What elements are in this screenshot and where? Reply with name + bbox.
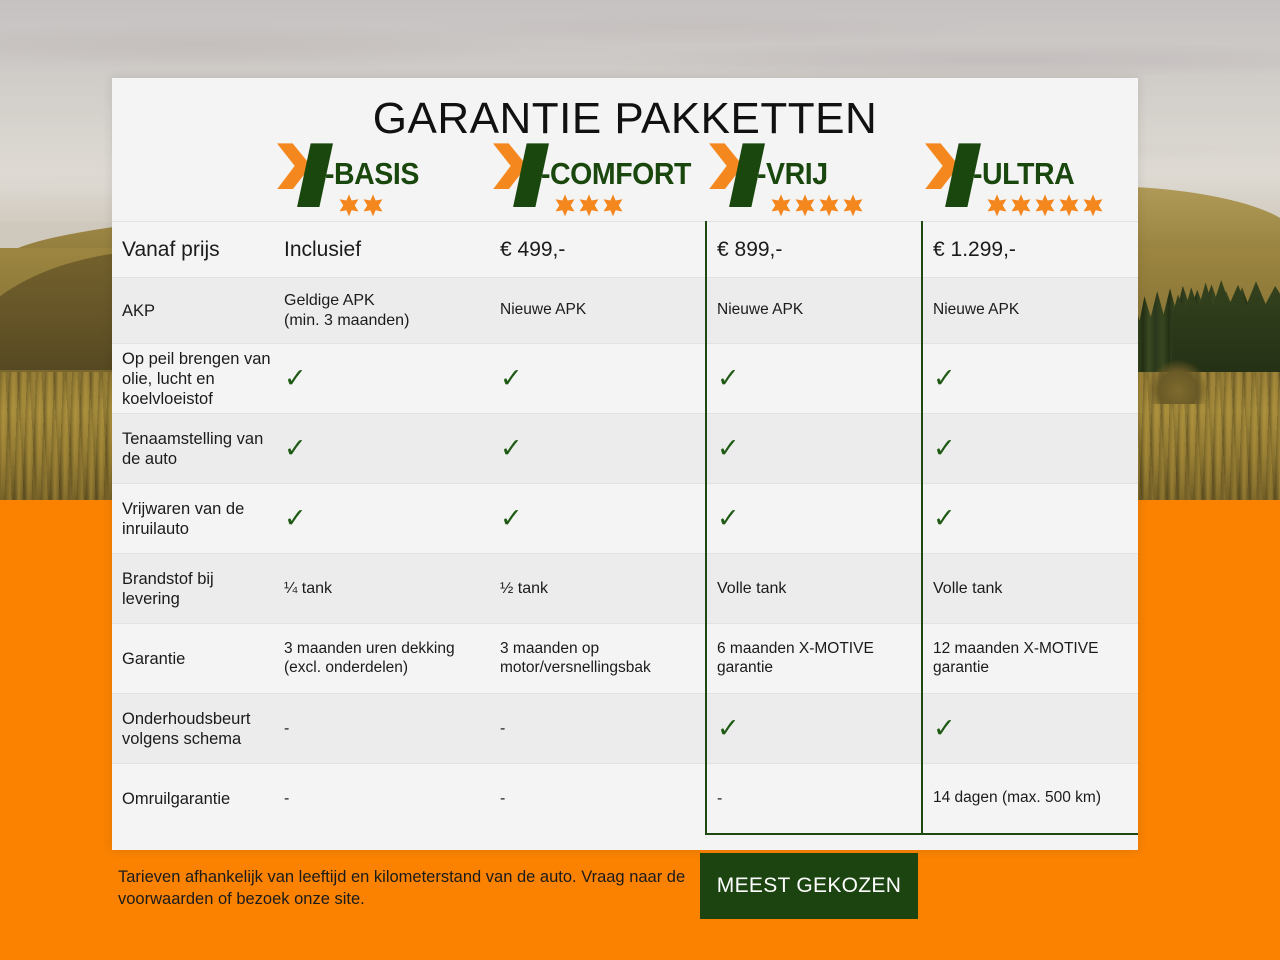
cell-comfort: ✓ (490, 344, 706, 414)
star-icon (362, 194, 384, 216)
cell-comfort: - (490, 694, 706, 764)
check-icon: ✓ (717, 503, 740, 534)
star-icon (794, 194, 816, 216)
table-row: Tenaamstelling van de auto ✓ ✓ ✓ ✓ (112, 414, 1138, 484)
check-icon: ✓ (500, 503, 523, 534)
cell-ultra: 14 dagen (max. 500 km) (922, 764, 1138, 834)
row-label: Tenaamstelling van de auto (112, 414, 274, 484)
cell-comfort: Nieuwe APK (490, 278, 706, 344)
shrub (1148, 360, 1208, 404)
check-icon: ✓ (933, 713, 956, 744)
star-icon (338, 194, 360, 216)
star-icon (986, 194, 1008, 216)
cell-basis: - (274, 694, 490, 764)
cell-comfort: ✓ (490, 484, 706, 554)
row-label: Garantie (112, 624, 274, 694)
cell-vrij: Volle tank (706, 554, 922, 624)
star-icon (1034, 194, 1056, 216)
check-icon: ✓ (717, 363, 740, 394)
cell-basis: ¼ tank (274, 554, 490, 624)
cell-basis: 3 maanden uren dekking(excl. onderdelen) (274, 624, 490, 694)
star-icon (1010, 194, 1032, 216)
star-rating-3 (554, 194, 624, 216)
cell-basis: - (274, 764, 490, 834)
check-icon: ✓ (284, 363, 307, 394)
star-icon (1082, 194, 1104, 216)
check-icon: ✓ (717, 713, 740, 744)
row-label: AKP (112, 278, 274, 344)
row-label: Vrijwaren van de inruilauto (112, 484, 274, 554)
cell-ultra: ✓ (922, 344, 1138, 414)
cell-vrij: € 899,- (706, 222, 922, 278)
pricing-card: GARANTIE PAKKETTEN -BASIS (112, 78, 1138, 850)
table-row: AKP Geldige APK(min. 3 maanden) Nieuwe A… (112, 278, 1138, 344)
row-label: Vanaf prijs (112, 222, 274, 278)
table-row: Garantie 3 maanden uren dekking(excl. on… (112, 624, 1138, 694)
logo-x-vrij: -VRIJ (709, 150, 834, 198)
star-icon (818, 194, 840, 216)
table-row: Vanaf prijs Inclusief € 499,- € 899,- € … (112, 222, 1138, 278)
row-label: Brandstof bij levering (112, 554, 274, 624)
package-header-row: -BASIS -COMFORT (112, 143, 1138, 221)
table-row: Op peil brengen van olie, lucht en koelv… (112, 344, 1138, 414)
star-icon (770, 194, 792, 216)
table-row: Vrijwaren van de inruilauto ✓ ✓ ✓ ✓ (112, 484, 1138, 554)
cell-comfort: € 499,- (490, 222, 706, 278)
cell-ultra: Volle tank (922, 554, 1138, 624)
logo-x-comfort: -COMFORT (493, 150, 704, 198)
cell-ultra: Nieuwe APK (922, 278, 1138, 344)
check-icon: ✓ (933, 363, 956, 394)
package-name-label: -COMFORT (541, 156, 691, 192)
cell-vrij: ✓ (706, 484, 922, 554)
cell-ultra: ✓ (922, 694, 1138, 764)
cell-comfort: ½ tank (490, 554, 706, 624)
star-rating-4 (770, 194, 864, 216)
package-name-label: -VRIJ (757, 156, 828, 192)
cell-ultra: € 1.299,- (922, 222, 1138, 278)
star-icon (554, 194, 576, 216)
package-header-x-ultra[interactable]: -ULTRA (922, 150, 1138, 198)
star-icon (578, 194, 600, 216)
check-icon: ✓ (933, 433, 956, 464)
star-icon (1058, 194, 1080, 216)
star-rating-5 (986, 194, 1104, 216)
cell-basis: ✓ (274, 484, 490, 554)
check-icon: ✓ (284, 503, 307, 534)
star-icon (602, 194, 624, 216)
meest-gekozen-button[interactable]: MEEST GEKOZEN (700, 853, 918, 919)
package-header-x-vrij[interactable]: -VRIJ (706, 150, 922, 198)
package-header-x-basis[interactable]: -BASIS (274, 150, 490, 198)
cell-comfort: - (490, 764, 706, 834)
cell-vrij: ✓ (706, 344, 922, 414)
cell-basis: ✓ (274, 414, 490, 484)
check-icon: ✓ (500, 433, 523, 464)
check-icon: ✓ (933, 503, 956, 534)
table-row: Onderhoudsbeurt volgens schema - - ✓ ✓ (112, 694, 1138, 764)
logo-x-ultra: -ULTRA (925, 150, 1083, 198)
check-icon: ✓ (500, 363, 523, 394)
row-label: Op peil brengen van olie, lucht en koelv… (112, 344, 274, 414)
cell-basis: Inclusief (274, 222, 490, 278)
cell-vrij: Nieuwe APK (706, 278, 922, 344)
cell-vrij: 6 maanden X-MOTIVEgarantie (706, 624, 922, 694)
package-name-label: -BASIS (325, 156, 419, 192)
table-row: Omruilgarantie - - - 14 dagen (max. 500 … (112, 764, 1138, 834)
cell-ultra: ✓ (922, 484, 1138, 554)
check-icon: ✓ (284, 433, 307, 464)
row-label: Onderhoudsbeurt volgens schema (112, 694, 274, 764)
package-header-x-comfort[interactable]: -COMFORT (490, 150, 706, 198)
cell-vrij: ✓ (706, 694, 922, 764)
cell-vrij: - (706, 764, 922, 834)
table-row: Brandstof bij levering ¼ tank ½ tank Vol… (112, 554, 1138, 624)
row-label: Omruilgarantie (112, 764, 274, 834)
footer: Tarieven afhankelijk van leeftijd en kil… (112, 856, 1138, 936)
package-comparison-table: Vanaf prijs Inclusief € 499,- € 899,- € … (112, 221, 1138, 835)
star-rating-2 (338, 194, 384, 216)
check-icon: ✓ (717, 433, 740, 464)
cell-vrij: ✓ (706, 414, 922, 484)
star-icon (842, 194, 864, 216)
cell-ultra: ✓ (922, 414, 1138, 484)
cell-basis: ✓ (274, 344, 490, 414)
footer-disclaimer: Tarieven afhankelijk van leeftijd en kil… (118, 866, 698, 911)
package-name-label: -ULTRA (973, 156, 1074, 192)
cell-comfort: ✓ (490, 414, 706, 484)
cell-ultra: 12 maanden X-MOTIVEgarantie (922, 624, 1138, 694)
page-title: GARANTIE PAKKETTEN (112, 78, 1138, 143)
cell-comfort: 3 maanden opmotor/versnellingsbak (490, 624, 706, 694)
cell-basis: Geldige APK(min. 3 maanden) (274, 278, 490, 344)
logo-x-basis: -BASIS (277, 150, 427, 198)
